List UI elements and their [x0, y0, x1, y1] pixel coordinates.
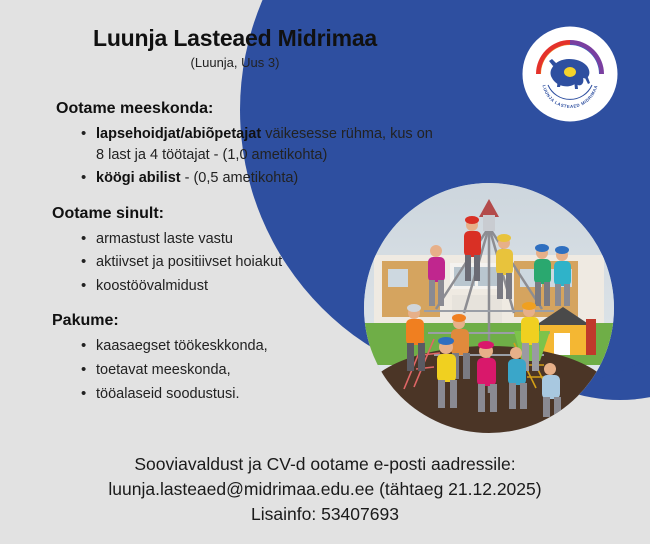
- footer-line-email: luunja.lasteaed@midrimaa.edu.ee (tähtaeg…: [0, 477, 650, 502]
- poster-body: Ootame meeskonda: lapsehoidjat/abiõpetaj…: [40, 100, 440, 420]
- list-pakume: kaasaegset töökeskkonda, toetavat meesko…: [40, 336, 440, 404]
- list-item-text: tööalaseid soodustusi.: [96, 386, 240, 402]
- section-heading-pakume: Pakume:: [52, 312, 440, 330]
- list-item-strong: lapsehoidjat/abiõpetajat: [96, 126, 261, 142]
- list-item: toetavat meeskonda,: [96, 360, 440, 381]
- list-ootame-meeskonda: lapsehoidjat/abiõpetajat väikesesse rühm…: [40, 124, 440, 189]
- page-title: Luunja Lasteaed Midrimaa: [0, 26, 470, 51]
- poster-header: Luunja Lasteaed Midrimaa (Luunja, Uus 3): [0, 26, 470, 70]
- list-item-text: - (0,5 ametikohta): [181, 170, 299, 186]
- list-item-text: armastust laste vastu: [96, 231, 233, 247]
- list-item: köögi abilist - (0,5 ametikohta): [96, 168, 440, 189]
- section-heading-ootame-sinult: Ootame sinult:: [52, 205, 440, 223]
- list-item: tööalaseid soodustusi.: [96, 384, 440, 405]
- list-item: aktiivset ja positiivset hoiakut: [96, 252, 440, 273]
- list-item: lapsehoidjat/abiõpetajat väikesesse rühm…: [96, 124, 440, 165]
- list-item: armastust laste vastu: [96, 229, 440, 250]
- list-item-text: toetavat meeskonda,: [96, 362, 231, 378]
- list-item-text: koostöövalmidust: [96, 278, 208, 294]
- page-subtitle: (Luunja, Uus 3): [0, 55, 470, 70]
- job-advert-poster: LUUNJA LASTEAED MIDRIMAA: [0, 0, 650, 544]
- footer-line-phone: Lisainfo: 53407693: [0, 502, 650, 527]
- list-item-text: kaasaegset töökeskkonda,: [96, 338, 268, 354]
- list-item-text: aktiivset ja positiivset hoiakut: [96, 254, 282, 270]
- list-item-strong: köögi abilist: [96, 170, 181, 186]
- footer-line-intro: Sooviavaldust ja CV-d ootame e-posti aad…: [0, 452, 650, 477]
- list-item: koostöövalmidust: [96, 276, 440, 297]
- list-item: kaasaegset töökeskkonda,: [96, 336, 440, 357]
- list-ootame-sinult: armastust laste vastu aktiivset ja posit…: [40, 229, 440, 297]
- poster-footer: Sooviavaldust ja CV-d ootame e-posti aad…: [0, 452, 650, 528]
- kindergarten-logo: LUUNJA LASTEAED MIDRIMAA: [522, 26, 618, 122]
- section-heading-ootame-meeskonda: Ootame meeskonda:: [56, 100, 440, 118]
